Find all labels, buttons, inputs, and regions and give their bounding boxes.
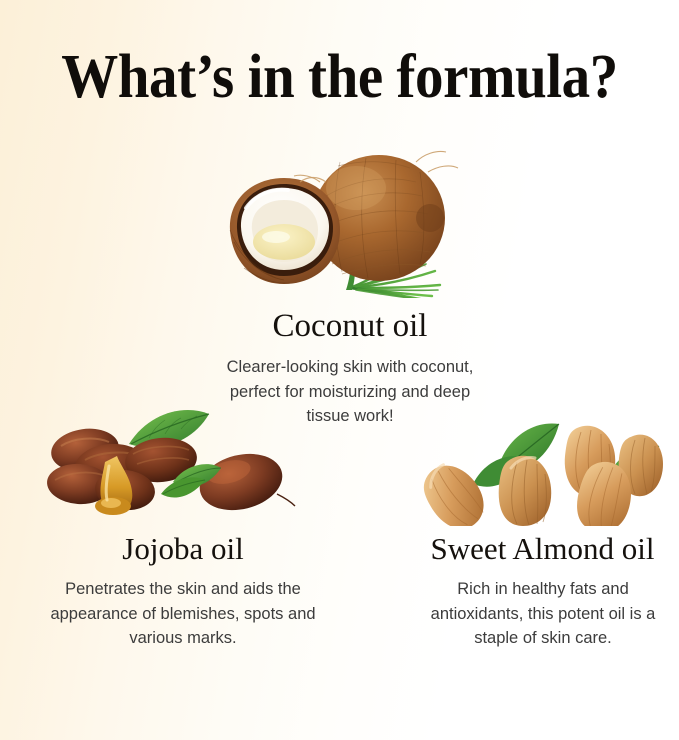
almond-illustration [401, 398, 679, 526]
ingredient-card-almond: Sweet Almond oil Rich in healthy fats an… [395, 398, 679, 651]
poster-root: What’s in the formula? [0, 0, 679, 740]
ingredient-heading-almond: Sweet Almond oil [390, 532, 679, 566]
page-title: What’s in the formula? [27, 44, 652, 110]
ingredient-heading-coconut: Coconut oil [200, 308, 500, 344]
jojoba-seed-cluster [46, 424, 295, 518]
coconut-illustration [200, 138, 500, 298]
ingredient-description-jojoba: Penetrates the skin and aids the appeara… [48, 577, 318, 651]
ingredient-card-coconut: Coconut oil Clearer-looking skin with co… [200, 138, 500, 429]
ingredient-card-jojoba: Jojoba oil Penetrates the skin and aids … [33, 398, 333, 651]
ingredient-description-almond: Rich in healthy fats and antioxidants, t… [409, 577, 677, 651]
coconut-half [230, 178, 340, 285]
almond-nut-front [413, 454, 637, 526]
jojoba-illustration [33, 398, 333, 526]
ingredient-heading-jojoba: Jojoba oil [33, 532, 333, 566]
